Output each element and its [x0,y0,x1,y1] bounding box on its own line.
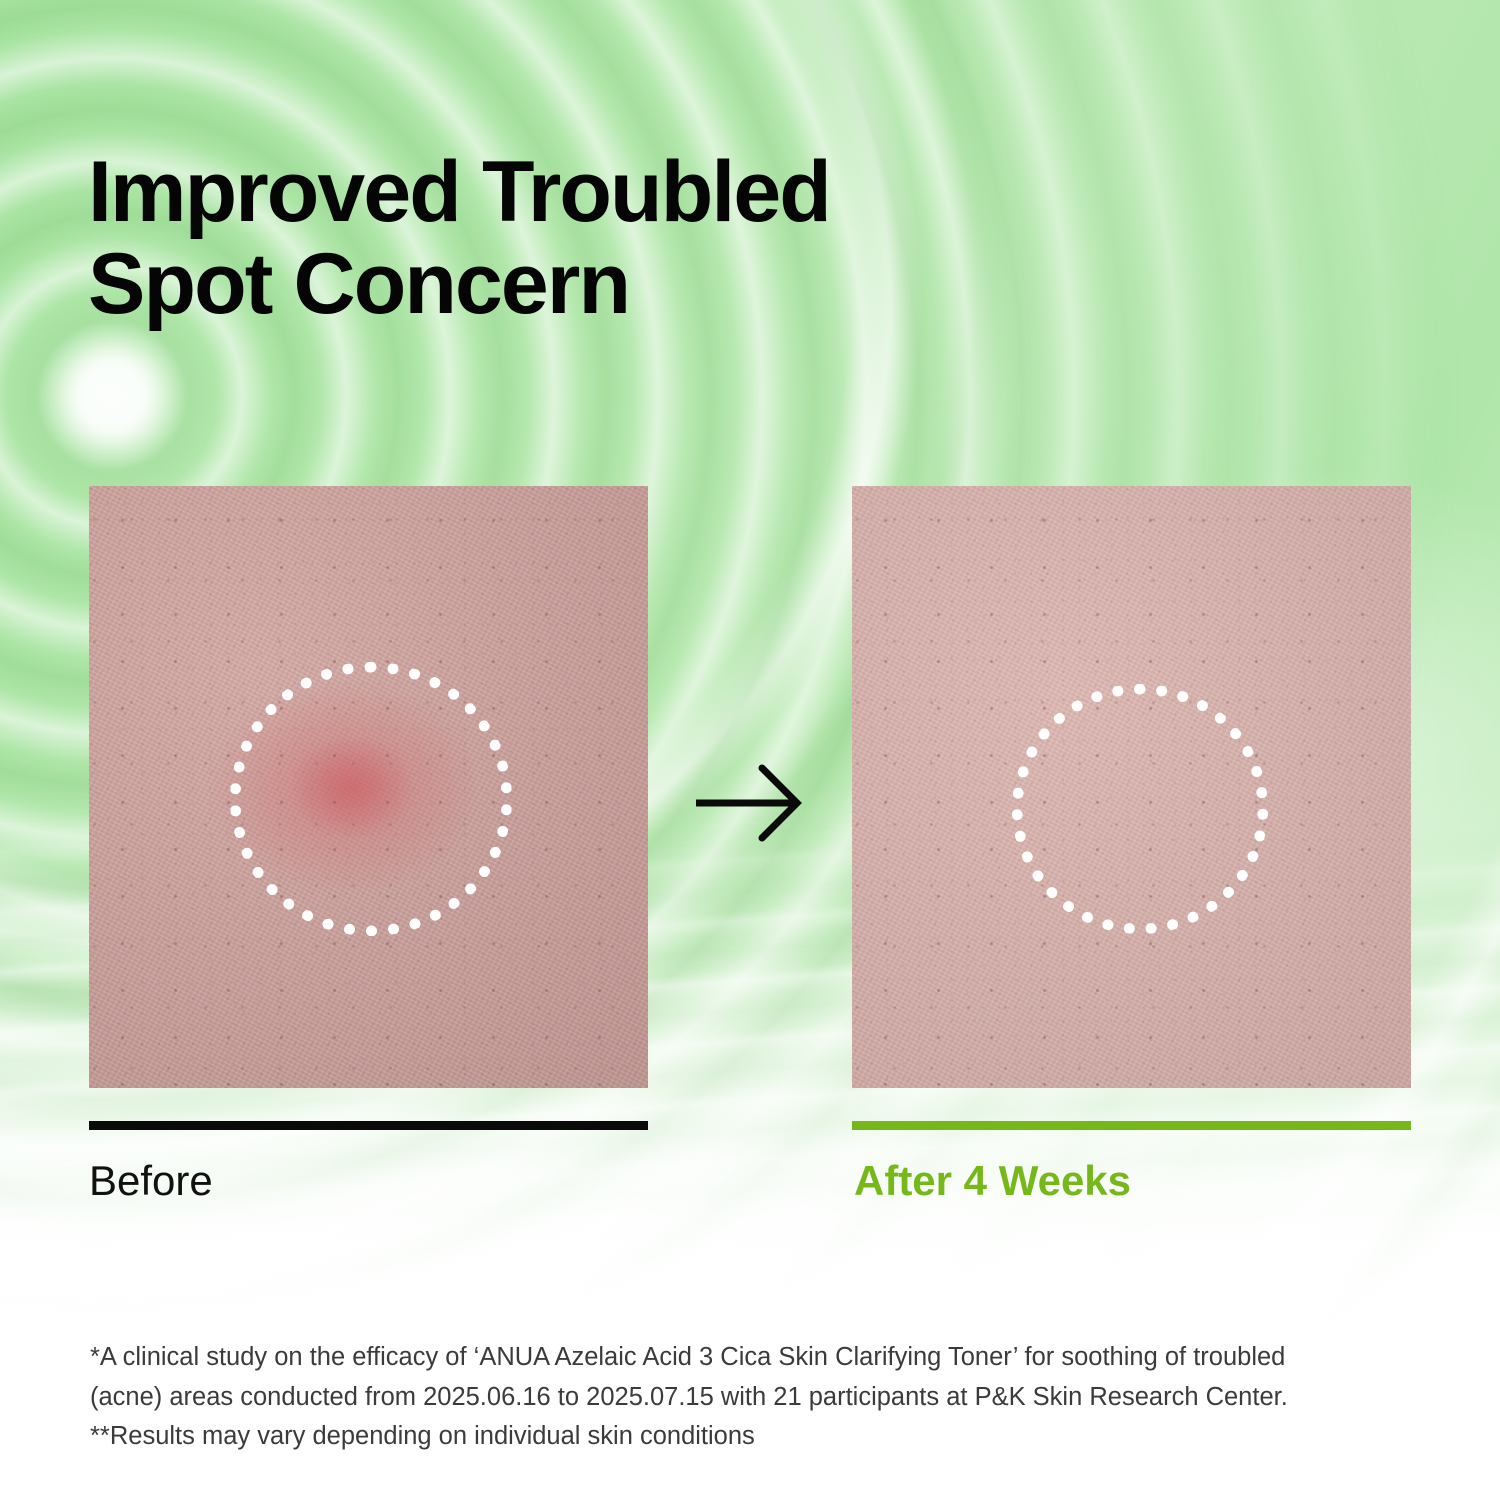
before-label: Before [89,1158,213,1204]
footnote-line-2: (acne) areas conducted from 2025.06.16 t… [90,1378,1390,1418]
before-photo [89,486,648,1088]
dotted-circle-icon [230,662,512,936]
after-divider-bar [852,1121,1411,1130]
footnotes: *A clinical study on the efficacy of ‘AN… [90,1338,1390,1457]
arrow-right-icon [694,762,806,844]
after-photo [852,486,1411,1088]
product-efficacy-banner: Improved Troubled Spot Concern Before Af… [0,0,1500,1500]
page-title: Improved Troubled Spot Concern [88,146,1088,330]
before-divider-bar [89,1121,648,1130]
footnote-line-1: *A clinical study on the efficacy of ‘AN… [90,1338,1390,1378]
footnote-line-3: **Results may vary depending on individu… [90,1417,1390,1457]
dotted-circle-icon [1012,684,1268,934]
after-label: After 4 Weeks [854,1158,1131,1204]
